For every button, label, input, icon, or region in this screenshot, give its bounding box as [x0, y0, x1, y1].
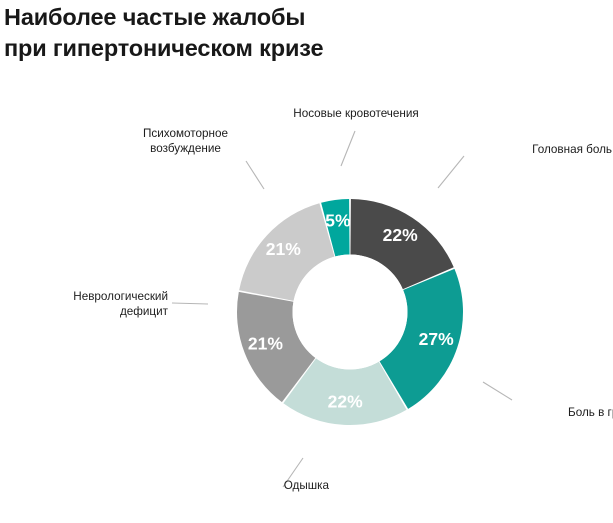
donut-chart-svg: 22%27%22%21%21%5%: [0, 0, 613, 523]
leader-line-headache: [438, 156, 464, 188]
slice-value-label: 22%: [328, 391, 363, 411]
callout-label-agitation: Психомоторное возбуждение: [123, 126, 248, 157]
callout-label-neuro-deficit: Неврологический дефицит: [38, 289, 168, 320]
donut-hole: [293, 255, 408, 370]
leader-line-neuro-deficit: [172, 303, 208, 304]
callout-label-nosebleed: Носовые кровотечения: [256, 106, 456, 121]
leader-line-nosebleed: [341, 131, 355, 166]
callout-label-chest-pain: Боль в груди: [517, 405, 613, 420]
leader-line-chest-pain: [483, 382, 512, 400]
callout-label-dyspnea: Одышка: [209, 478, 329, 493]
donut-chart: 22%27%22%21%21%5% Носовые кровотечения Г…: [0, 0, 613, 523]
slice-value-label: 22%: [383, 225, 418, 245]
slice-value-label: 21%: [248, 334, 283, 354]
slice-value-label: 21%: [266, 239, 301, 259]
slice-value-label: 27%: [419, 329, 454, 349]
callout-label-headache: Головная боль: [462, 142, 612, 157]
slice-value-label: 5%: [325, 211, 351, 231]
leader-line-agitation: [246, 161, 264, 189]
